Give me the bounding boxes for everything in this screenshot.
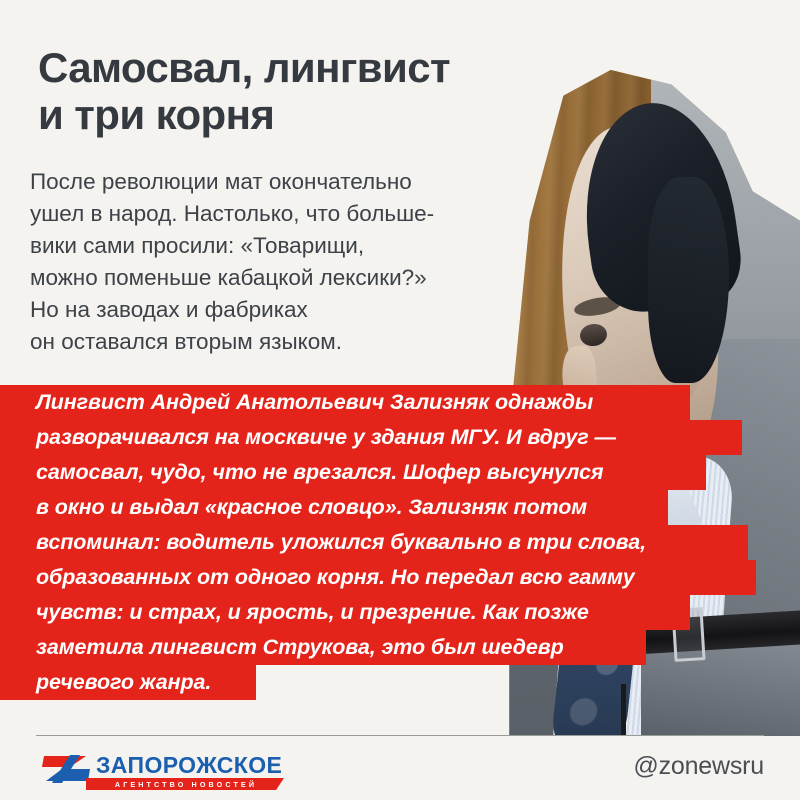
body-line: ушел в народ. Настолько, что больше- <box>30 198 510 230</box>
body-paragraph: После революции мат окончательноушел в н… <box>30 166 510 358</box>
quote-line: речевого жанра. <box>0 665 256 700</box>
quote-line: Лингвист Андрей Анатольевич Зализняк одн… <box>0 385 690 420</box>
body-line: он оставался вторым языком. <box>30 326 510 358</box>
body-line: вики сами просили: «Товарищи, <box>30 230 510 262</box>
quote-block: Лингвист Андрей Анатольевич Зализняк одн… <box>0 385 800 700</box>
body-line: Но на заводах и фабриках <box>30 294 510 326</box>
quote-line: вспоминал: водитель уложился буквально в… <box>0 525 748 560</box>
quote-line: в окно и выдал «красное словцо». Зализня… <box>0 490 668 525</box>
brand-subtitle: агентство новостей <box>92 778 280 790</box>
infographic-card: Самосвал, лингвист и три корня После рев… <box>0 0 800 800</box>
brand-logo[interactable]: ЗАПОРОЖСКОЕ агентство новостей <box>40 752 290 792</box>
quote-line: заметила лингвист Струкова, это был шеде… <box>0 630 646 665</box>
footer-divider <box>36 735 764 736</box>
quote-line: разворачивался на москвиче у здания МГУ.… <box>0 420 742 455</box>
page-title: Самосвал, лингвист и три корня <box>38 44 508 138</box>
headline-line-1: Самосвал, лингвист <box>38 44 508 91</box>
body-line: можно поменьше кабацкой лексики?» <box>30 262 510 294</box>
brand-name: ЗАПОРОЖСКОЕ <box>96 752 282 779</box>
quote-line: образованных от одного корня. Но передал… <box>0 560 756 595</box>
body-line: После революции мат окончательно <box>30 166 510 198</box>
z-mark-icon <box>40 754 92 784</box>
social-handle[interactable]: @zonewsru <box>633 752 764 781</box>
photo-hair-side <box>648 177 729 383</box>
quote-line: чувств: и страх, и ярость, и презрение. … <box>0 595 690 630</box>
quote-line: самосвал, чудо, что не врезался. Шофер в… <box>0 455 706 490</box>
headline-line-2: и три корня <box>38 91 508 138</box>
